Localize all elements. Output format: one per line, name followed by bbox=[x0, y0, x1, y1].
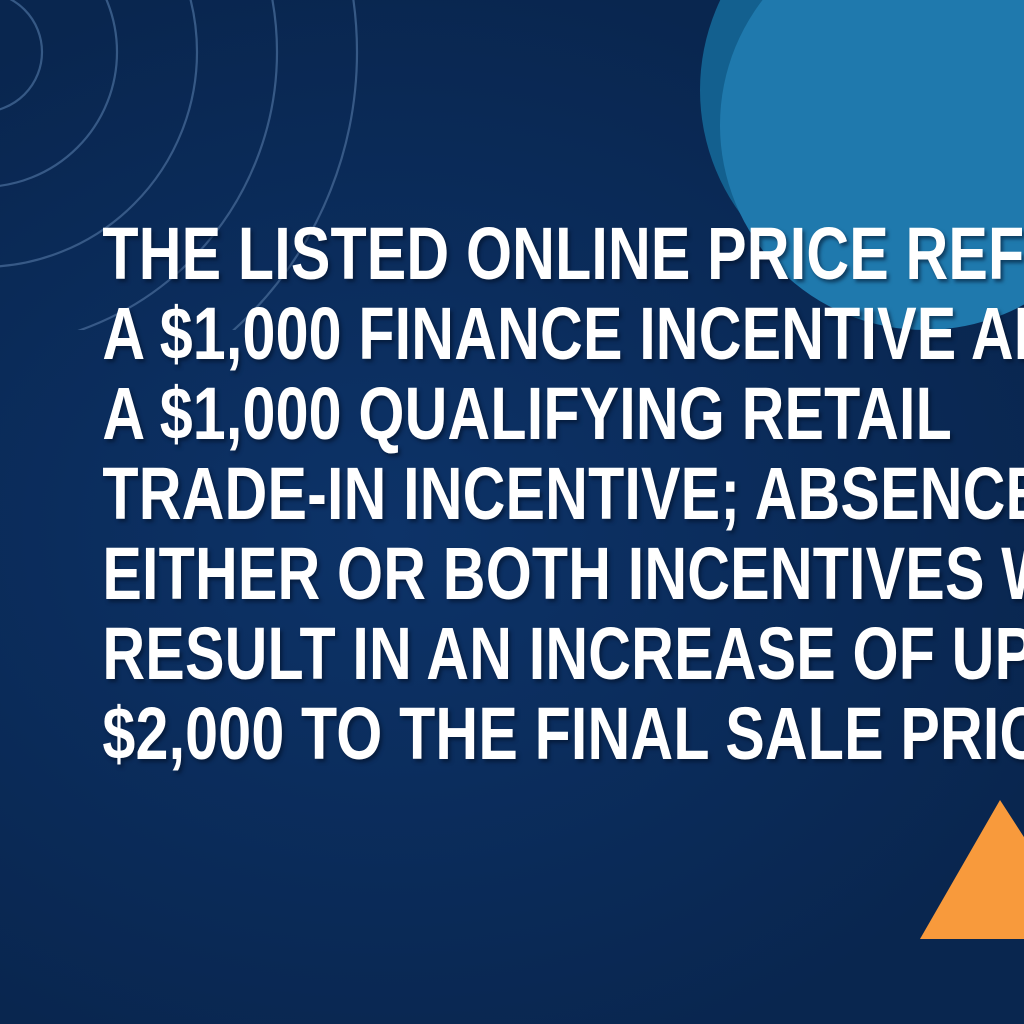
headline-line-7: $2,000 TO THE FINAL SALE PRICE. bbox=[102, 694, 921, 774]
page-title: THE LISTED ONLINE PRICE REFLECTS A $1,00… bbox=[102, 214, 921, 774]
headline-line-1: THE LISTED ONLINE PRICE REFLECTS bbox=[102, 214, 921, 294]
headline-line-4: TRADE-IN INCENTIVE; ABSENCE OF bbox=[102, 454, 921, 534]
headline-line-6: RESULT IN AN INCREASE OF UP TO bbox=[102, 614, 921, 694]
headline-line-5: EITHER OR BOTH INCENTIVES WILL bbox=[102, 534, 921, 614]
headline-line-2: A $1,000 FINANCE INCENTIVE AND bbox=[102, 294, 921, 374]
headline-line-3: A $1,000 QUALIFYING RETAIL bbox=[102, 374, 921, 454]
orange-triangle-decoration bbox=[920, 800, 1024, 939]
promo-banner: THE LISTED ONLINE PRICE REFLECTS A $1,00… bbox=[0, 0, 1024, 1024]
